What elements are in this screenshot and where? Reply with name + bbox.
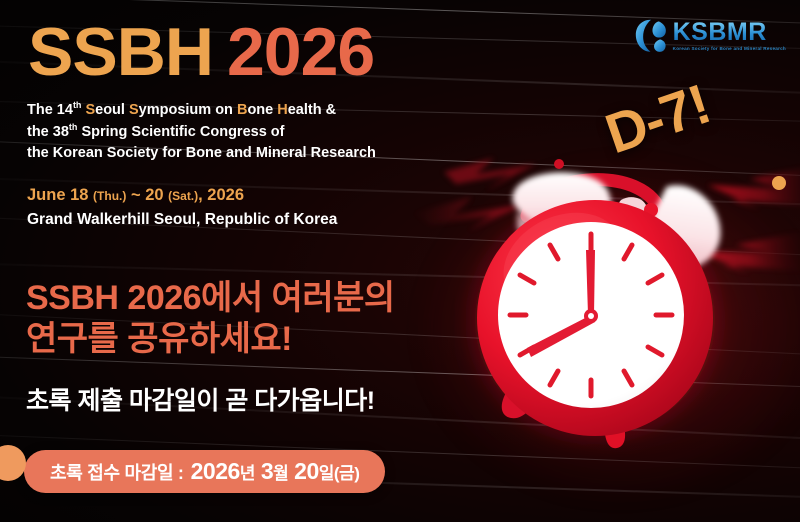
date-venue-block: June 18 (Thu.) ~ 20 (Sat.), 2026 Grand W… <box>27 183 337 231</box>
korean-headline-line-1: SSBH 2026에서 여러분의 <box>26 278 395 319</box>
ksbmr-logo[interactable]: KSBMR Korean Society for Bone and Minera… <box>634 18 786 54</box>
title-ssbh: SSBH <box>28 14 213 90</box>
subtitle-text: ealth & <box>288 102 336 118</box>
korean-headline: SSBH 2026에서 여러분의 연구를 공유하세요! <box>26 278 395 361</box>
subtitle-line-1: The 14th Seoul Symposium on Bone Health … <box>27 99 376 121</box>
deadline-date: 2026년 3월 20일(금) <box>191 458 360 485</box>
deadline-year: 2026 <box>191 458 240 484</box>
event-venue: Grand Walkerhill Seoul, Republic of Kore… <box>27 208 337 231</box>
highlight-h: H <box>277 102 287 118</box>
ksbmr-logo-tagline: Korean Society for Bone and Mineral Rese… <box>673 47 786 52</box>
deadline-month: 3 <box>261 458 273 484</box>
deadline-year-unit: 년 <box>240 464 255 483</box>
promotional-banner: KSBMR Korean Society for Bone and Minera… <box>0 0 800 522</box>
subtitle-text: the 38 <box>27 124 69 140</box>
date-end: 20 <box>145 186 163 204</box>
deadline-badge[interactable]: 초록 접수 마감일 : 2026년 3월 20일(금) <box>24 450 385 493</box>
deadline-day: 20 <box>294 458 319 484</box>
deadline-day-unit: 일(금) <box>319 464 360 483</box>
event-subtitle: The 14th Seoul Symposium on Bone Health … <box>27 99 376 164</box>
title-year: 2026 <box>227 14 374 90</box>
subtitle-text: ymposium on <box>139 102 237 118</box>
highlight-s: S <box>85 102 95 118</box>
date-separator: ~ <box>126 186 145 204</box>
deadline-label: 초록 접수 마감일 : <box>50 459 184 485</box>
date-start-weekday: (Thu.) <box>93 189 126 203</box>
subtitle-text: Spring Scientific Congress of <box>77 124 284 140</box>
subtitle-text: The 14 <box>27 102 73 118</box>
highlight-s: S <box>129 102 139 118</box>
subtitle-text: one <box>247 102 277 118</box>
deadline-month-unit: 월 <box>273 464 288 483</box>
subtitle-text: eoul <box>95 102 129 118</box>
date-start: June 18 <box>27 186 88 204</box>
subtitle-line-2: the 38th Spring Scientific Congress of <box>27 121 376 143</box>
korean-subheadline: 초록 제출 마감일이 곧 다가옵니다! <box>26 381 375 417</box>
date-end-weekday: (Sat.) <box>168 189 198 203</box>
event-date: June 18 (Thu.) ~ 20 (Sat.), 2026 <box>27 183 337 208</box>
ksbmr-logo-mark <box>634 18 668 54</box>
date-year: , 2026 <box>198 186 244 204</box>
accent-dot-right <box>772 176 786 190</box>
subtitle-line-3: the Korean Society for Bone and Mineral … <box>27 143 376 164</box>
korean-headline-line-2: 연구를 공유하세요! <box>26 319 395 360</box>
alarm-clock-illustration <box>455 150 755 470</box>
highlight-b: B <box>237 102 247 118</box>
event-title: SSBH2026 <box>28 18 374 86</box>
ksbmr-logo-name: KSBMR <box>673 20 786 45</box>
